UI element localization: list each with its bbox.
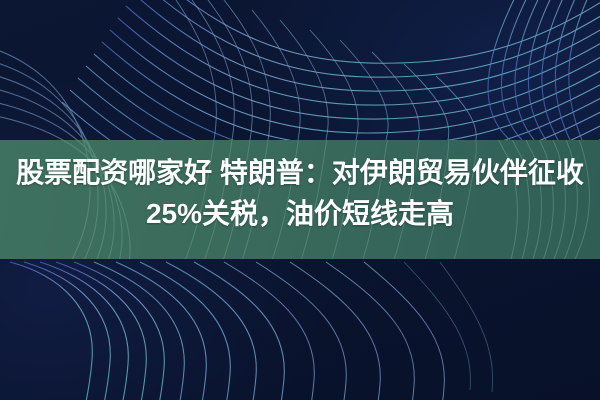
banner-image: 股票配资哪家好 特朗普：对伊朗贸易伙伴征收25%关税，油价短线走高 — [0, 0, 600, 400]
headline-text: 股票配资哪家好 特朗普：对伊朗贸易伙伴征收25%关税，油价短线走高 — [0, 152, 600, 234]
